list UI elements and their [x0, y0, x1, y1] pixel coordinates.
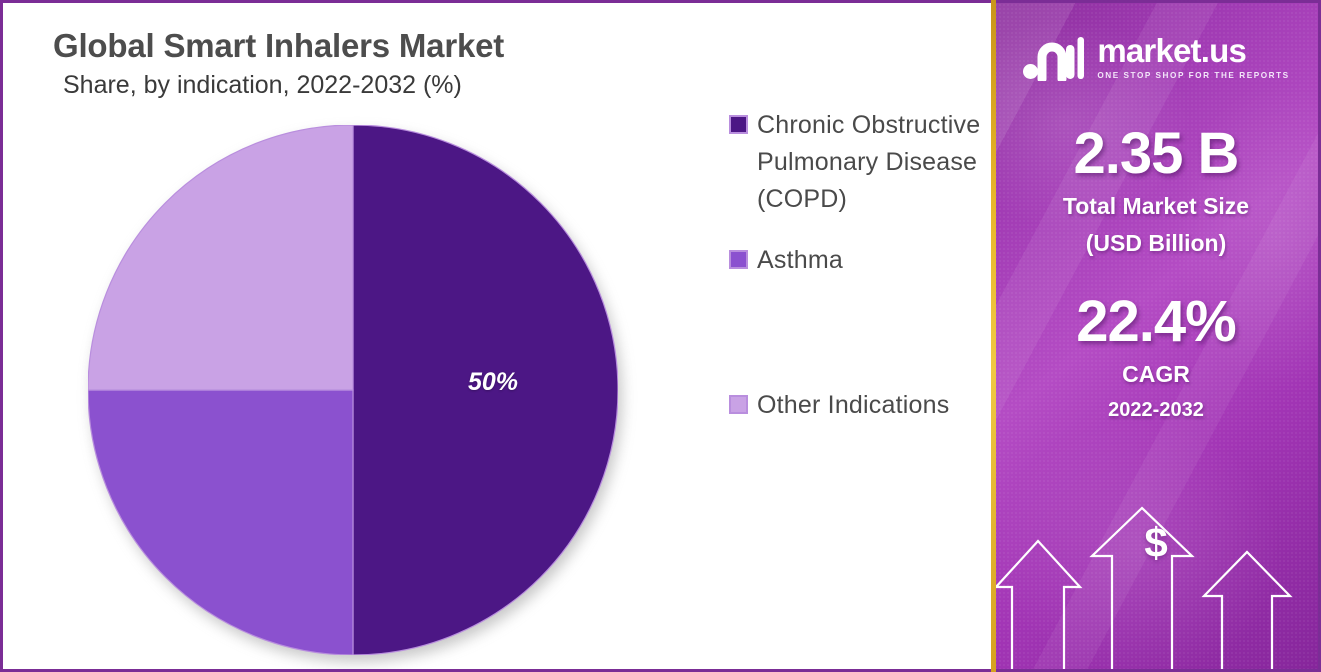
- legend-label-other-indications: Other Indications: [757, 387, 949, 424]
- dollar-sign-icon: $: [994, 522, 1318, 564]
- stat-cagr-period: 2022-2032: [994, 398, 1318, 423]
- legend-swatch-icon-copd: [729, 115, 748, 134]
- legend-item-asthma[interactable]: Asthma: [729, 242, 984, 279]
- legend-label-asthma: Asthma: [757, 242, 843, 279]
- legend-swatch-icon-other-indications: [729, 395, 748, 414]
- brand-panel: market.us ONE STOP SHOP FOR THE REPORTS …: [994, 0, 1321, 672]
- stat-market-size: 2.35 B Total Market Size (USD Billion): [994, 125, 1318, 257]
- panel-divider-stripe: [991, 0, 996, 672]
- chart-subtitle: Share, by indication, 2022-2032 (%): [63, 71, 504, 100]
- stat-cagr-label: CAGR: [994, 361, 1318, 388]
- brand-tagline: ONE STOP SHOP FOR THE REPORTS: [1097, 71, 1289, 80]
- pie-slice-asthma[interactable]: [88, 390, 353, 655]
- pie-slice-other-indications[interactable]: [88, 125, 353, 390]
- infographic-root: Global Smart Inhalers Market Share, by i…: [0, 0, 1321, 672]
- page-title: Global Smart Inhalers Market: [53, 27, 504, 65]
- chart-header: Global Smart Inhalers Market Share, by i…: [53, 27, 504, 100]
- chart-panel: Global Smart Inhalers Market Share, by i…: [0, 0, 994, 672]
- stat-cagr-value: 22.4%: [994, 293, 1318, 351]
- legend-item-other-indications[interactable]: Other Indications: [729, 387, 984, 424]
- pie-svg: [88, 125, 618, 655]
- brand-logo[interactable]: market.us ONE STOP SHOP FOR THE REPORTS: [994, 3, 1318, 81]
- stat-market-size-value: 2.35 B: [994, 125, 1318, 183]
- pie-chart: 50%: [88, 125, 618, 655]
- stat-market-size-unit: (USD Billion): [994, 230, 1318, 257]
- legend-label-copd: Chronic Obstructive Pulmonary Disease (C…: [757, 107, 984, 218]
- pie-slice-value-label: 50%: [468, 368, 518, 397]
- stat-cagr: 22.4% CAGR 2022-2032: [994, 293, 1318, 423]
- market-us-logo-icon: [1022, 33, 1084, 81]
- chart-legend: Chronic Obstructive Pulmonary Disease (C…: [729, 107, 984, 424]
- brand-name: market.us: [1097, 34, 1289, 67]
- stat-market-size-label: Total Market Size: [994, 193, 1318, 220]
- growth-arrow-right: [1204, 552, 1290, 669]
- legend-item-copd[interactable]: Chronic Obstructive Pulmonary Disease (C…: [729, 107, 984, 218]
- legend-swatch-icon-asthma: [729, 250, 748, 269]
